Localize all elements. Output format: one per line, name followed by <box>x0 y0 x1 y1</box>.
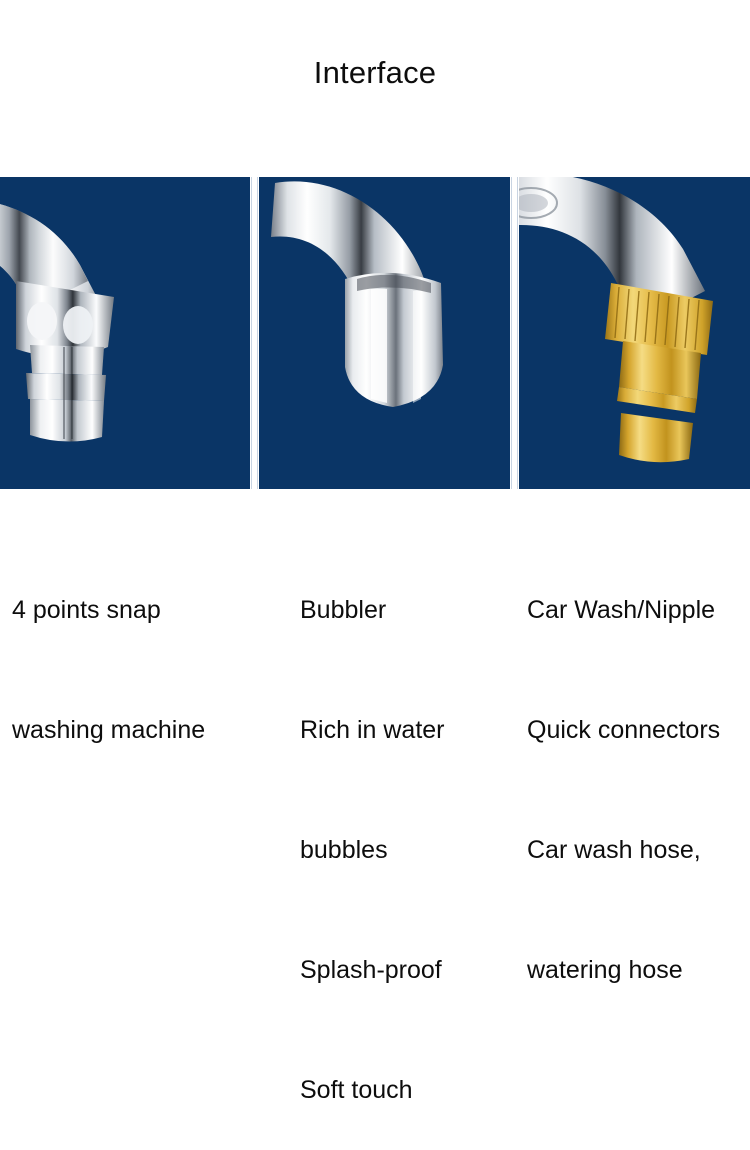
page-title: Interface <box>0 54 750 92</box>
caption-bubbler: Bubbler Rich in water bubbles Splash-pro… <box>300 510 445 1150</box>
caption-line: 4 points snap <box>12 590 205 630</box>
caption-line: washing machine <box>12 710 205 750</box>
product-image-strip <box>0 177 750 489</box>
product-image-bubbler <box>259 177 510 489</box>
caption-line: watering hose <box>527 950 720 990</box>
caption-line: Car wash hose, <box>527 830 720 870</box>
caption-line: Bubbler <box>300 590 445 630</box>
caption-car-wash-nipple: Car Wash/Nipple Quick connectors Car was… <box>527 510 720 1030</box>
product-image-car-wash-nipple <box>519 177 750 489</box>
caption-line: bubbles <box>300 830 445 870</box>
panel-divider <box>250 177 259 489</box>
caption-line: Car Wash/Nipple <box>527 590 720 630</box>
caption-line: Splash-proof <box>300 950 445 990</box>
product-image-four-points-snap <box>0 177 250 489</box>
caption-line: Quick connectors <box>527 710 720 750</box>
faucet-brass-quick-connector-icon <box>519 177 750 463</box>
faucet-bubbler-icon <box>259 177 510 467</box>
caption-four-points-snap: 4 points snap washing machine <box>12 510 205 790</box>
caption-line: Soft touch <box>300 1070 445 1110</box>
caption-line: Rich in water <box>300 710 445 750</box>
panel-divider <box>510 177 519 489</box>
faucet-snap-connector-icon <box>0 177 250 469</box>
